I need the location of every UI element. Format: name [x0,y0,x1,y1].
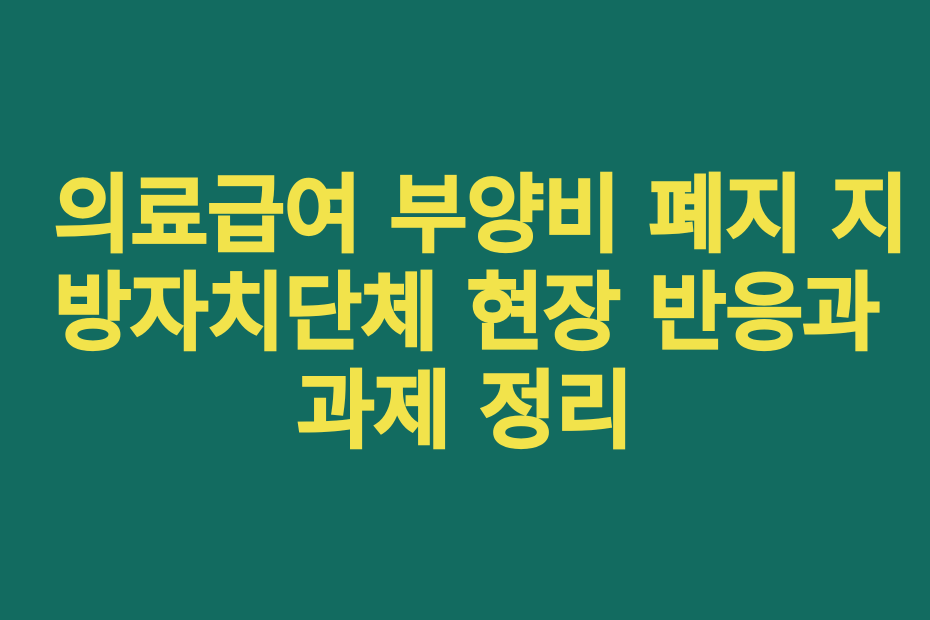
headline-line-2: 방자치단체 현장 반응과 [54,264,876,362]
thumbnail-card: 의료급여 부양비 폐지 지 방자치단체 현장 반응과 과제 정리 [0,0,930,620]
headline-line-1: 의료급여 부양비 폐지 지 [54,166,876,264]
page-title: 의료급여 부양비 폐지 지 방자치단체 현장 반응과 과제 정리 [54,166,876,460]
headline-line-3: 과제 정리 [54,362,876,460]
